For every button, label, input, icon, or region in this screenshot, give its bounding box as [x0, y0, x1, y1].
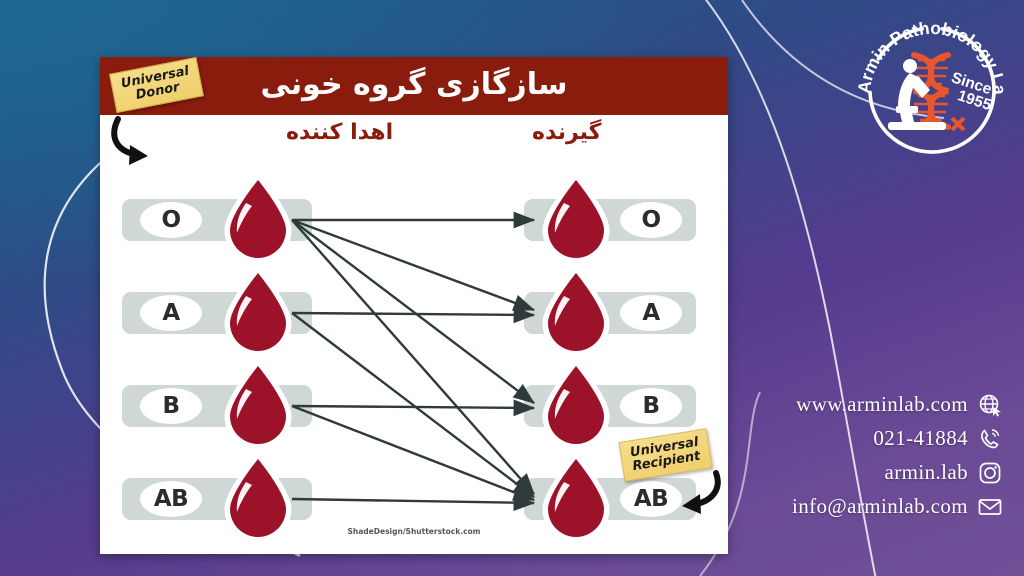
blood-row-b: B B — [100, 363, 728, 447]
instagram-icon — [978, 461, 1002, 485]
contact-block: www.arminlab.com 021-41884 armin.lab inf… — [722, 392, 1002, 528]
armin-pathobiology-lab-logo: Armin Pathobiology Lab Since 1955 — [852, 10, 1012, 170]
contact-email-text: info@arminlab.com — [792, 494, 968, 519]
universal-recipient-arrow-icon — [668, 469, 726, 517]
recipient-pill-o[interactable]: O — [620, 202, 682, 238]
column-caption-recipient: گیرنده — [532, 120, 601, 145]
blood-row-o: O O — [100, 177, 728, 261]
blood-drop-icon — [540, 268, 612, 354]
recipient-pill-a[interactable]: A — [620, 295, 682, 331]
blood-row-a: A A — [100, 270, 728, 354]
image-credit: ShadeDesign/Shutterstock.com — [100, 527, 728, 536]
contact-website[interactable]: www.arminlab.com — [722, 392, 1002, 417]
recipient-pill-b[interactable]: B — [620, 388, 682, 424]
blood-drop-icon — [222, 175, 294, 261]
universal-donor-arrow-icon — [108, 115, 166, 171]
donor-pill-o[interactable]: O — [140, 202, 202, 238]
contact-email[interactable]: info@arminlab.com — [722, 494, 1002, 519]
envelope-icon — [978, 495, 1002, 519]
contact-instagram-text: armin.lab — [885, 460, 969, 485]
blood-drop-icon — [222, 268, 294, 354]
donor-pill-a[interactable]: A — [140, 295, 202, 331]
donor-pill-b[interactable]: B — [140, 388, 202, 424]
globe-icon — [978, 393, 1002, 417]
blood-drop-icon — [222, 361, 294, 447]
contact-instagram[interactable]: armin.lab — [722, 460, 1002, 485]
contact-website-text: www.arminlab.com — [796, 392, 968, 417]
contact-phone-text: 021-41884 — [873, 426, 968, 451]
arrow-o-to-ab — [292, 220, 534, 494]
phone-icon — [978, 427, 1002, 451]
blood-drop-icon — [540, 361, 612, 447]
contact-phone[interactable]: 021-41884 — [722, 426, 1002, 451]
donor-pill-ab[interactable]: AB — [140, 481, 202, 517]
column-caption-donor: اهدا کننده — [286, 120, 393, 145]
infographic-card: سازگازی گروه خونی EASY! اهدا کننده گیرند… — [100, 57, 728, 554]
blood-drop-icon — [540, 175, 612, 261]
